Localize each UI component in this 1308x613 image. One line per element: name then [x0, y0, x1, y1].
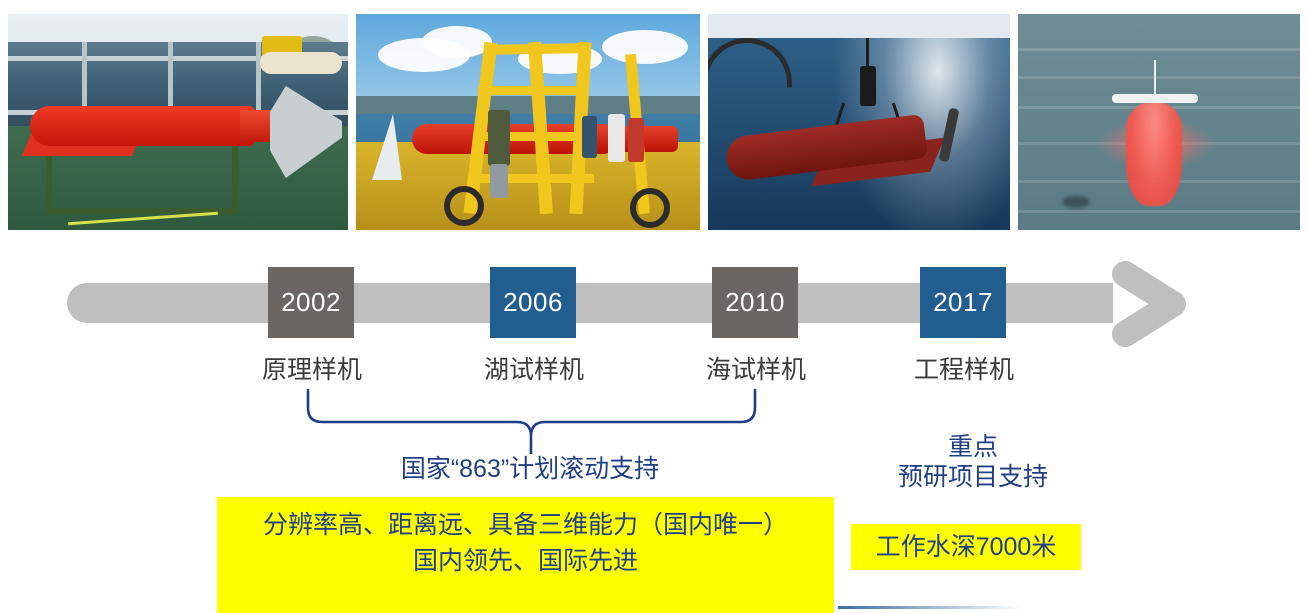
timeline: 2002 2006 2010 2017 原理样机 湖试样机 海试样机 工程样机	[0, 238, 1308, 378]
gantry-brace	[486, 43, 582, 55]
caption-863-program-support: 国家“863”计划滚动支持	[258, 455, 802, 485]
person	[582, 116, 597, 158]
fender-tire	[444, 186, 484, 226]
person	[608, 114, 625, 162]
photo-sea-trial-prototype	[708, 14, 1010, 230]
wave	[1018, 210, 1300, 213]
photo-lake-trial-prototype	[356, 14, 700, 230]
person	[488, 110, 510, 166]
photo-engineering-prototype	[1018, 14, 1300, 230]
highlight-capabilities-line-1: 分辨率高、距离远、具备三维能力（国内唯一）	[217, 507, 834, 543]
sky	[708, 14, 1010, 40]
photo-strip	[0, 0, 1308, 238]
lifting-block	[860, 66, 876, 106]
wave	[1018, 76, 1300, 79]
highlight-capabilities-line-2: 国内领先、国际先进	[217, 543, 834, 579]
timeline-marker-2017[interactable]: 2017	[920, 267, 1006, 338]
highlight-working-depth: 工作水深7000米	[851, 524, 1081, 570]
timeline-marker-2002[interactable]: 2002	[268, 267, 354, 338]
timeline-year-2002: 2002	[281, 287, 341, 318]
gantry-brace	[468, 174, 594, 183]
timeline-year-2017: 2017	[933, 287, 993, 318]
wave	[1018, 48, 1300, 51]
bottom-rule	[838, 606, 1023, 609]
submerged-shadow	[1062, 196, 1090, 208]
fender-tire	[630, 188, 670, 228]
cloud	[422, 26, 492, 58]
timeline-year-2006: 2006	[503, 287, 563, 318]
vehicle-body	[1126, 102, 1182, 206]
timeline-marker-2006[interactable]: 2006	[490, 267, 576, 338]
timeline-arrow-icon	[1095, 244, 1205, 362]
caption-key-preresearch-support: 重点 预研项目支持	[858, 433, 1088, 492]
antenna-mast	[1154, 60, 1156, 96]
timeline-year-2010: 2010	[725, 287, 785, 318]
cloud	[602, 30, 688, 64]
coiled-rope	[260, 52, 342, 74]
vehicle-body	[30, 106, 255, 146]
gantry-brace	[478, 86, 588, 95]
person	[628, 118, 644, 162]
timeline-marker-2010[interactable]: 2010	[712, 267, 798, 338]
person-legs	[490, 164, 508, 198]
highlight-capabilities: 分辨率高、距离远、具备三维能力（国内唯一） 国内领先、国际先进	[217, 497, 834, 613]
photo-principle-prototype-on-deck	[8, 14, 348, 230]
